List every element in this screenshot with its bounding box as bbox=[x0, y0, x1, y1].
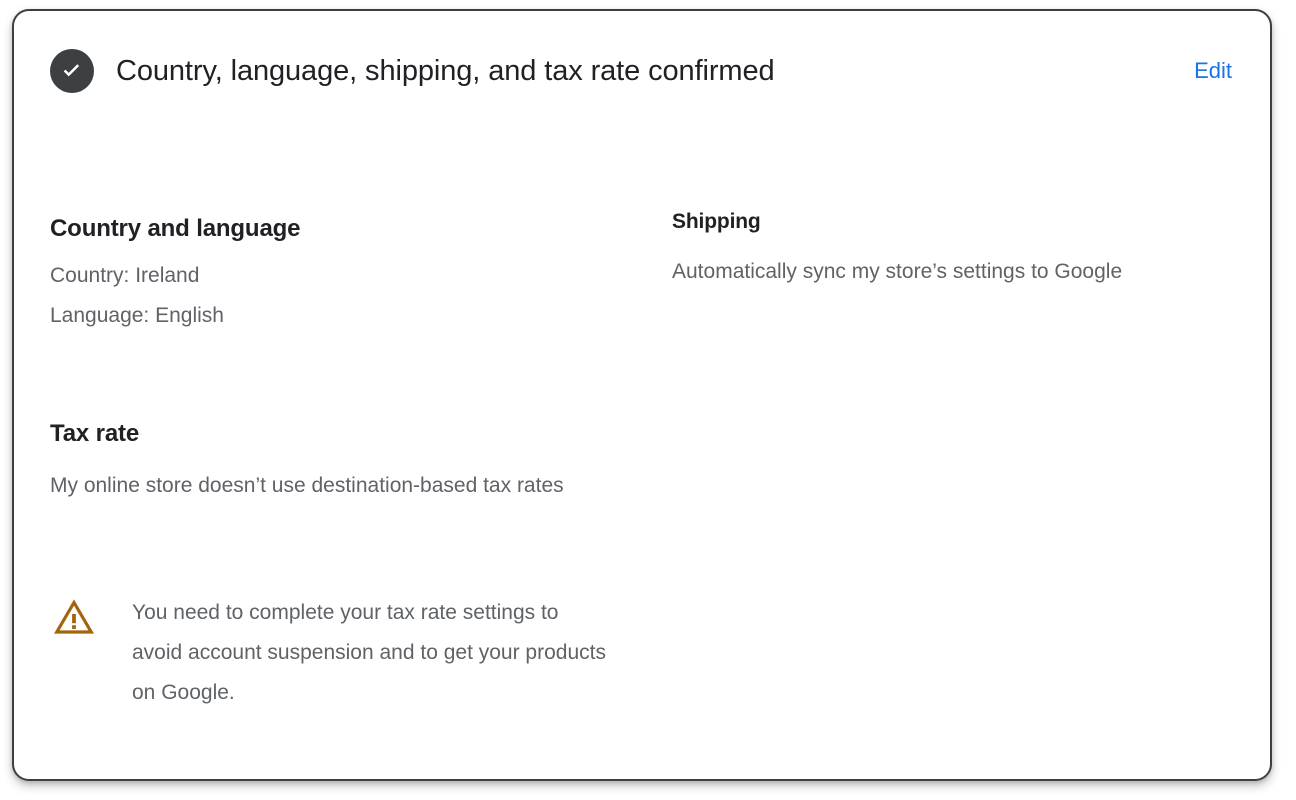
country-language-values: Country: Ireland Language: English bbox=[50, 256, 610, 336]
confirmation-card: Country, language, shipping, and tax rat… bbox=[12, 9, 1272, 781]
tax-rate-warning: You need to complete your tax rate setti… bbox=[54, 593, 614, 713]
page-title: Country, language, shipping, and tax rat… bbox=[116, 54, 775, 89]
section-tax-rate: Tax rate My online store doesn’t use des… bbox=[50, 419, 610, 506]
warning-message: You need to complete your tax rate setti… bbox=[132, 593, 612, 713]
shipping-value: Automatically sync my store’s settings t… bbox=[672, 251, 1217, 292]
country-value: Country: Ireland bbox=[50, 256, 610, 296]
warning-triangle-icon bbox=[54, 599, 94, 635]
screen: Country, language, shipping, and tax rat… bbox=[0, 0, 1296, 800]
section-country-language: Country and language Country: Ireland La… bbox=[50, 214, 610, 336]
section-title-country-language: Country and language bbox=[50, 214, 610, 244]
language-value: Language: English bbox=[50, 296, 610, 336]
tax-rate-value: My online store doesn’t use destination-… bbox=[50, 466, 580, 506]
card-body: Country and language Country: Ireland La… bbox=[14, 131, 1270, 781]
card-header: Country, language, shipping, and tax rat… bbox=[14, 11, 1270, 131]
section-title-shipping: Shipping bbox=[672, 209, 1217, 235]
section-title-tax-rate: Tax rate bbox=[50, 419, 610, 449]
edit-link[interactable]: Edit bbox=[1192, 54, 1234, 88]
section-shipping: Shipping Automatically sync my store’s s… bbox=[672, 209, 1217, 292]
check-circle-icon bbox=[50, 49, 94, 93]
